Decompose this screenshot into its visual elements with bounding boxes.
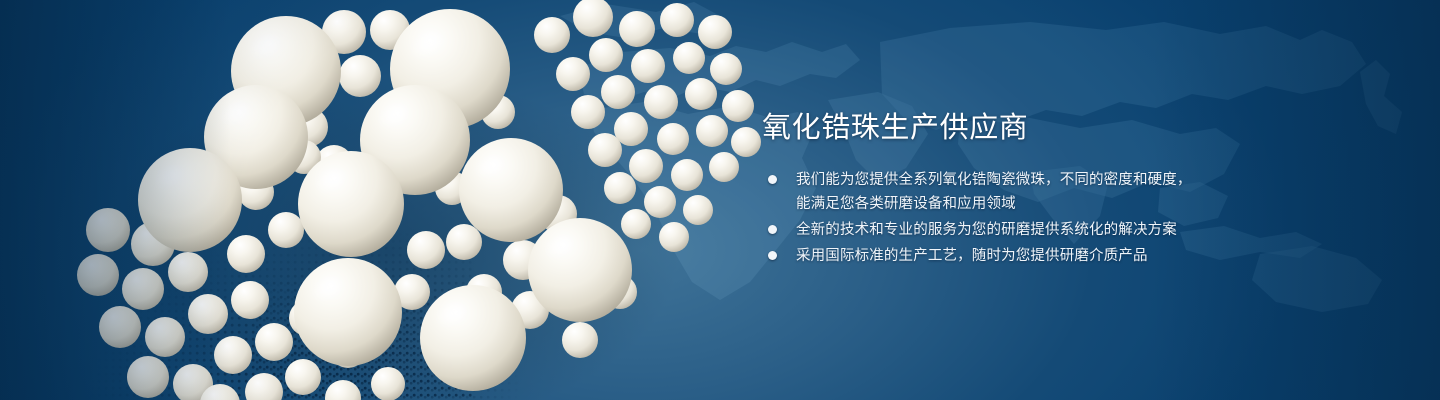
bullet-item: 我们能为您提供全系列氧化锆陶瓷微珠，不同的密度和硬度， 能满足您各类研磨设备和应… bbox=[768, 168, 1368, 216]
bullet-text-line1: 我们能为您提供全系列氧化锆陶瓷微珠，不同的密度和硬度， bbox=[796, 172, 1192, 188]
bullet-item: 全新的技术和专业的服务为您的研磨提供系统化的解决方案 bbox=[768, 218, 1368, 242]
bullet-text-line1: 全新的技术和专业的服务为您的研磨提供系统化的解决方案 bbox=[796, 222, 1177, 238]
bullet-dot-icon bbox=[768, 175, 777, 184]
banner-text-content: 氧化锆珠生产供应商 我们能为您提供全系列氧化锆陶瓷微珠，不同的密度和硬度， 能满… bbox=[762, 0, 1382, 400]
bullet-text-line2: 能满足您各类研磨设备和应用领域 bbox=[796, 192, 1368, 216]
banner-title: 氧化锆珠生产供应商 bbox=[762, 110, 1028, 146]
bullet-text: 我们能为您提供全系列氧化锆陶瓷微珠，不同的密度和硬度， 能满足您各类研磨设备和应… bbox=[796, 168, 1368, 216]
bullet-text: 采用国际标准的生产工艺，随时为您提供研磨介质产品 bbox=[796, 244, 1368, 268]
bullet-dot-icon bbox=[768, 225, 777, 234]
bullet-dot-icon bbox=[768, 251, 777, 260]
hero-banner: 氧化锆珠生产供应商 我们能为您提供全系列氧化锆陶瓷微珠，不同的密度和硬度， 能满… bbox=[0, 0, 1440, 400]
bullet-text: 全新的技术和专业的服务为您的研磨提供系统化的解决方案 bbox=[796, 218, 1368, 242]
banner-bullet-list: 我们能为您提供全系列氧化锆陶瓷微珠，不同的密度和硬度， 能满足您各类研磨设备和应… bbox=[768, 168, 1368, 270]
bullet-text-line1: 采用国际标准的生产工艺，随时为您提供研磨介质产品 bbox=[796, 248, 1148, 264]
bullet-item: 采用国际标准的生产工艺，随时为您提供研磨介质产品 bbox=[768, 244, 1368, 268]
